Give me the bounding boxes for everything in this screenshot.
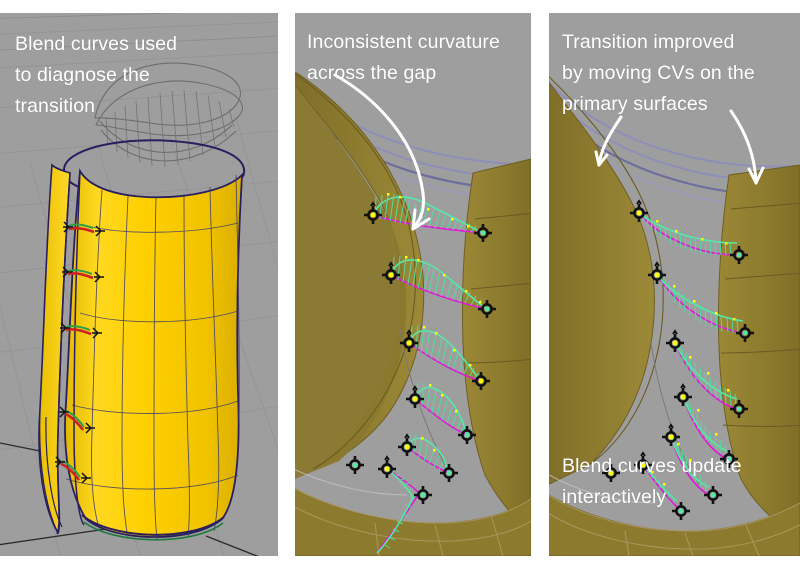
viewport-3d-scene-overview[interactable]: [0, 13, 278, 556]
viewport-3d-scene-inconsistent[interactable]: [295, 13, 531, 556]
panel-overview-viewport[interactable]: Blend curves used to diagnose the transi…: [0, 13, 278, 556]
panel-improved-transition-viewport[interactable]: Transition improved by moving CVs on the…: [549, 13, 800, 556]
panel-inconsistent-curvature-viewport[interactable]: Inconsistent curvature across the gap: [295, 13, 531, 556]
slide-canvas: Blend curves used to diagnose the transi…: [0, 0, 800, 576]
viewport-3d-scene-improved[interactable]: [549, 13, 800, 556]
